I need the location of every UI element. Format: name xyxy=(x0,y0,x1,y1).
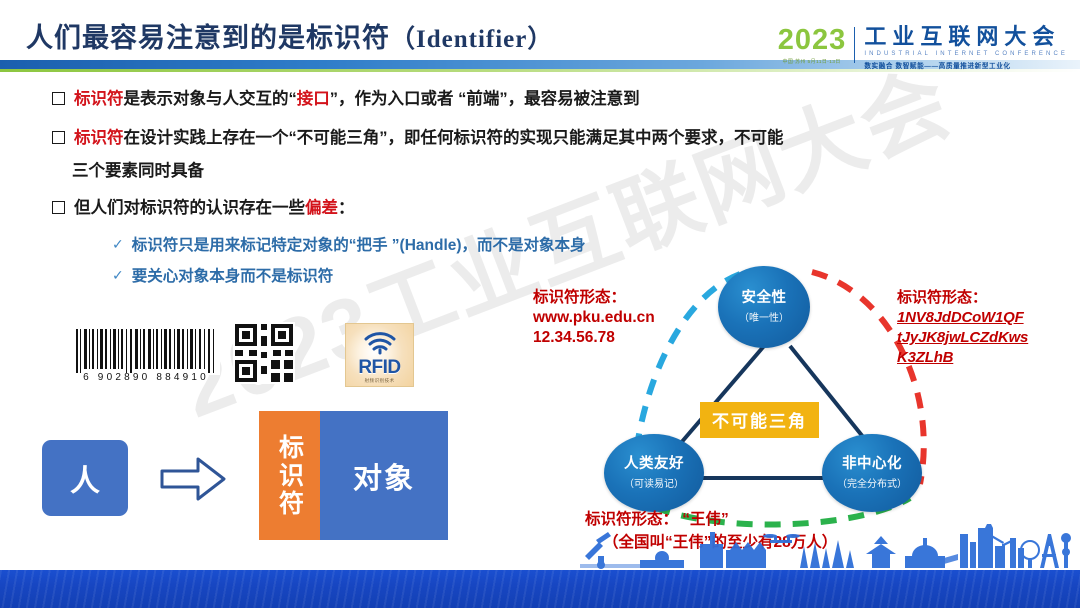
logo-name-cn: 工业互联网大会 xyxy=(864,26,1068,48)
square-bullet-icon xyxy=(52,131,65,144)
sub-bullet-item-2-text: 要关心对象本身而不是标识符 xyxy=(132,265,334,289)
node-decentralized-title: 非中心化 xyxy=(842,456,902,473)
identifier-box-label: 标识符 xyxy=(275,434,305,518)
barcode-bars-icon xyxy=(72,327,220,375)
center-label: 不可能三角 xyxy=(700,402,819,438)
bullet-1-seg-0: 标识符 xyxy=(74,90,124,108)
node-security: 安全性 （唯一性） xyxy=(718,266,810,348)
sub-bullet-item-1-text: 标识符只是用来标记特定对象的“把手 ”(Handle)，而不是对象本身 xyxy=(132,234,586,258)
slide-root: 2023工业互联网大会 人们最容易注意到的是标识符（Identifier） 20… xyxy=(0,0,1080,608)
bullet-3-seg-0: 但人们对标识符的认识存在一些 xyxy=(74,199,305,217)
rfid-logo: RFID 射频识别技术 xyxy=(345,323,414,387)
object-box: 对象 xyxy=(320,411,448,540)
bullet-1-seg-3: ”，作为入口或者 “前端”，最容易被注意到 xyxy=(330,90,640,108)
barcode-image: 6 902890 884910 xyxy=(72,327,220,383)
logo-tagline: 数实融合 数智赋能——高质量推进新型工业化 xyxy=(864,60,1068,70)
sub-bullet-item-1: ✓ 标识符只是用来标记特定对象的“把手 ”(Handle)，而不是对象本身 xyxy=(112,234,1062,258)
check-icon: ✓ xyxy=(112,236,124,253)
node-human-friendly: 人类友好 （可读易记） xyxy=(604,434,704,512)
page-title-cn: 人们最容易注意到的是标识符 xyxy=(26,23,390,53)
page-title-en: （Identifier） xyxy=(390,26,553,53)
node-security-subtitle: （唯一性） xyxy=(739,309,789,324)
skyline-decoration-icon xyxy=(0,524,1080,572)
annotation-left-line1: www.pku.edu.cn xyxy=(533,308,655,328)
rfid-sublabel: 射频识别技术 xyxy=(365,378,395,384)
logo-divider xyxy=(854,27,855,63)
annotation-right: 标识符形态： 1NV8JdDCoW1QF tJyJK8jwLCZdKws K3Z… xyxy=(897,288,1028,368)
bullet-item-2-continuation: 三个要素同时具备 xyxy=(72,158,1062,185)
conference-logo: 2023 中国·苏州 5月11日-13日 工业互联网大会 INDUSTRIAL … xyxy=(778,26,1068,70)
annotation-right-hash-line2: tJyJK8jwLCZdKws xyxy=(897,328,1028,348)
annotation-right-hash-line3: K3ZLhB xyxy=(897,348,1028,368)
bullet-item-3-text: 但人们对标识符的认识存在一些偏差： xyxy=(74,195,355,222)
logo-text-block: 工业互联网大会 INDUSTRIAL INTERNET CONFERENCE 数… xyxy=(864,26,1068,70)
node-security-title: 安全性 xyxy=(742,290,787,307)
square-bullet-icon xyxy=(52,92,65,105)
node-human-friendly-subtitle: （可读易记） xyxy=(624,475,684,490)
logo-year: 2023 xyxy=(778,26,847,55)
barcode-digits: 6 902890 884910 xyxy=(72,372,220,383)
annotation-left: 标识符形态： www.pku.edu.cn 12.34.56.78 xyxy=(533,288,655,348)
annotation-right-heading: 标识符形态： xyxy=(897,288,1028,308)
node-decentralized: 非中心化 （完全分布式） xyxy=(822,434,922,512)
arrow-right-icon xyxy=(160,455,228,503)
bullet-item-2-text: 标识符在设计实践上存在一个“不可能三角”，即任何标识符的实现只能满足其中两个要求… xyxy=(74,125,784,152)
rfid-label: RFID xyxy=(358,358,400,377)
logo-year-subtitle: 中国·苏州 5月11日-13日 xyxy=(783,58,841,65)
bullet-2-seg-1: 在设计实践上存在一个“不可能三角”，即任何标识符的实现只能满足其中两个要求，不可… xyxy=(124,129,784,147)
bullet-item-2: 标识符在设计实践上存在一个“不可能三角”，即任何标识符的实现只能满足其中两个要求… xyxy=(52,125,1062,152)
annotation-right-hash-line1: 1NV8JdDCoW1QF xyxy=(897,308,1028,328)
page-title: 人们最容易注意到的是标识符（Identifier） xyxy=(26,16,553,55)
bullet-item-1-text: 标识符是表示对象与人交互的“接口”，作为入口或者 “前端”，最容易被注意到 xyxy=(74,86,640,113)
logo-name-en: INDUSTRIAL INTERNET CONFERENCE xyxy=(864,51,1068,57)
bottom-decoration-band xyxy=(0,570,1080,608)
square-bullet-icon xyxy=(52,201,65,214)
logo-year-block: 2023 中国·苏州 5月11日-13日 xyxy=(778,26,847,65)
rfid-wave-icon xyxy=(360,330,400,356)
bullet-item-3: 但人们对标识符的认识存在一些偏差： xyxy=(52,195,1062,222)
bullet-2-seg-0: 标识符 xyxy=(74,129,124,147)
bullet-1-seg-1: 是表示对象与人交互的“ xyxy=(124,90,297,108)
node-human-friendly-title: 人类友好 xyxy=(624,456,684,473)
annotation-left-line2: 12.34.56.78 xyxy=(533,328,655,348)
identifier-box: 标识符 xyxy=(259,411,320,540)
qr-code-icon xyxy=(233,322,295,384)
check-icon: ✓ xyxy=(112,267,124,284)
bullet-3-seg-2: ： xyxy=(338,199,355,217)
person-box: 人 xyxy=(42,440,128,516)
node-decentralized-subtitle: （完全分布式） xyxy=(837,475,907,490)
bullet-1-seg-2: 接口 xyxy=(297,90,330,108)
annotation-left-heading: 标识符形态： xyxy=(533,288,655,308)
bullet-3-seg-1: 偏差 xyxy=(305,199,338,217)
bullet-item-1: 标识符是表示对象与人交互的“接口”，作为入口或者 “前端”，最容易被注意到 xyxy=(52,86,1062,113)
